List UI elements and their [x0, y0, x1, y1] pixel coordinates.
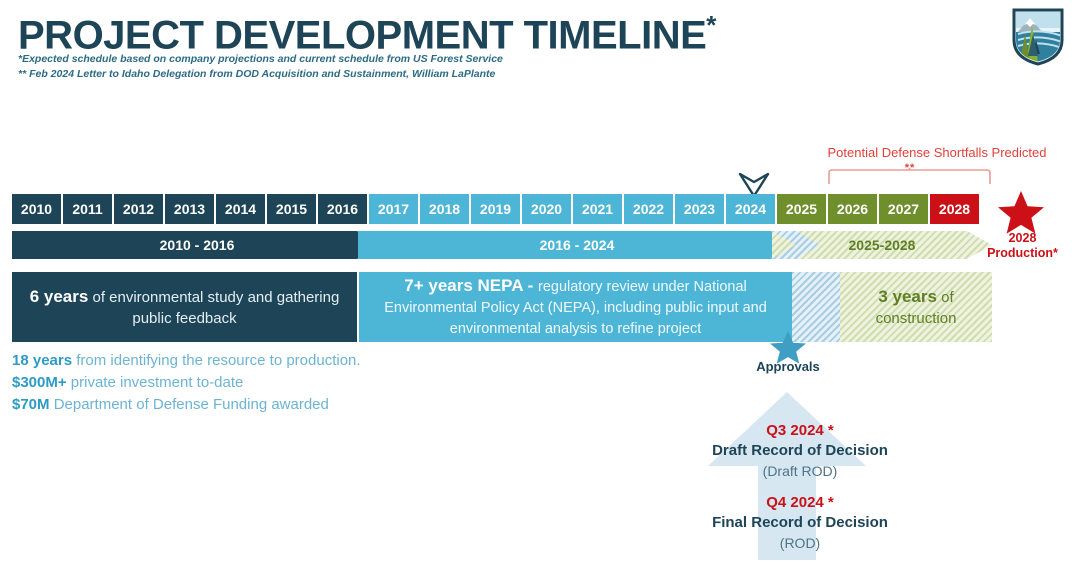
- callout-draft-rod: Q3 2024 * Draft Record of Decision (Draf…: [640, 421, 960, 481]
- shortfall-bracket: [828, 168, 991, 184]
- year-cell-2026[interactable]: 2026: [828, 194, 877, 224]
- stat-2-rest: private investment to-date: [67, 374, 244, 391]
- shortfall-label: Potential Defense Shortfalls Predicted: [812, 145, 1062, 160]
- description-box-construction: 3 years of construction: [840, 272, 992, 342]
- page-title: PROJECT DEVELOPMENT TIMELINE*: [18, 2, 918, 58]
- callout-2-quarter: Q4 2024 *: [640, 493, 960, 513]
- stat-2-bold: $300M+: [12, 374, 67, 391]
- year-cell-2015[interactable]: 2015: [267, 194, 316, 224]
- desc-3-bold: 3 years: [878, 287, 937, 306]
- footnote-expected-schedule: *Expected schedule based on company proj…: [18, 52, 718, 67]
- summary-stats: 18 years from identifying the resource t…: [12, 350, 482, 416]
- callout-1-quarter: Q3 2024 *: [640, 421, 960, 441]
- callout-1-subtitle: (Draft ROD): [640, 461, 960, 481]
- description-box-environmental-study: 6 years of environmental study and gathe…: [12, 272, 357, 342]
- stat-line-2: $300M+ private investment to-date: [12, 372, 482, 394]
- year-cell-2022[interactable]: 2022: [624, 194, 673, 224]
- footnote-dod-letter: ** Feb 2024 Letter to Idaho Delegation f…: [18, 67, 718, 82]
- stat-1-bold: 18 years: [12, 352, 72, 369]
- phase-bar-1: 2010 - 2016: [12, 231, 382, 259]
- year-cell-2012[interactable]: 2012: [114, 194, 163, 224]
- year-cell-2010[interactable]: 2010: [12, 194, 61, 224]
- production-star-icon: [998, 190, 1044, 234]
- desc-2-bold: 7+ years NEPA -: [404, 276, 538, 295]
- year-cell-2014[interactable]: 2014: [216, 194, 265, 224]
- desc-1-bold: 6 years: [30, 287, 89, 306]
- page-title-text: PROJECT DEVELOPMENT TIMELINE: [18, 13, 706, 57]
- description-box-nepa: 7+ years NEPA - regulatory review under …: [359, 272, 792, 342]
- callout-2-title: Final Record of Decision: [640, 513, 960, 533]
- year-cell-2013[interactable]: 2013: [165, 194, 214, 224]
- mountain-shield-logo: [1010, 4, 1066, 66]
- year-cell-2016[interactable]: 2016: [318, 194, 367, 224]
- year-cell-2018[interactable]: 2018: [420, 194, 469, 224]
- year-cell-2020[interactable]: 2020: [522, 194, 571, 224]
- stat-1-rest: from identifying the resource to product…: [72, 352, 361, 369]
- year-cell-2027[interactable]: 2027: [879, 194, 928, 224]
- year-cell-2017[interactable]: 2017: [369, 194, 418, 224]
- stat-line-1: 18 years from identifying the resource t…: [12, 350, 482, 372]
- phase-description-row: 6 years of environmental study and gathe…: [12, 272, 992, 342]
- desc-1-rest: of environmental study and gathering pub…: [88, 289, 339, 327]
- callout-1-title: Draft Record of Decision: [640, 441, 960, 461]
- year-cell-2024[interactable]: 2024: [726, 194, 775, 224]
- callout-2-subtitle: (ROD): [640, 533, 960, 553]
- year-cell-2011[interactable]: 2011: [63, 194, 112, 224]
- phase-bar-2: 2016 - 2024: [358, 231, 796, 259]
- year-cell-2021[interactable]: 2021: [573, 194, 622, 224]
- callout-final-rod: Q4 2024 * Final Record of Decision (ROD): [640, 493, 960, 553]
- stat-line-3: $70M Department of Defense Funding award…: [12, 394, 482, 416]
- stat-3-bold: $70M: [12, 396, 50, 413]
- year-cell-2028[interactable]: 2028: [930, 194, 979, 224]
- year-cell-2025[interactable]: 2025: [777, 194, 826, 224]
- year-cell-2019[interactable]: 2019: [471, 194, 520, 224]
- approvals-label: Approvals: [738, 359, 838, 374]
- year-cell-2023[interactable]: 2023: [675, 194, 724, 224]
- phase-arrow-bars: 2010 - 2016 2016 - 2024 2025-2028: [12, 231, 992, 259]
- timeline-year-row: 2010201120122013201420152016201720182019…: [12, 194, 979, 224]
- stat-3-rest: Department of Defense Funding awarded: [50, 396, 329, 413]
- page-title-asterisk: *: [706, 10, 716, 40]
